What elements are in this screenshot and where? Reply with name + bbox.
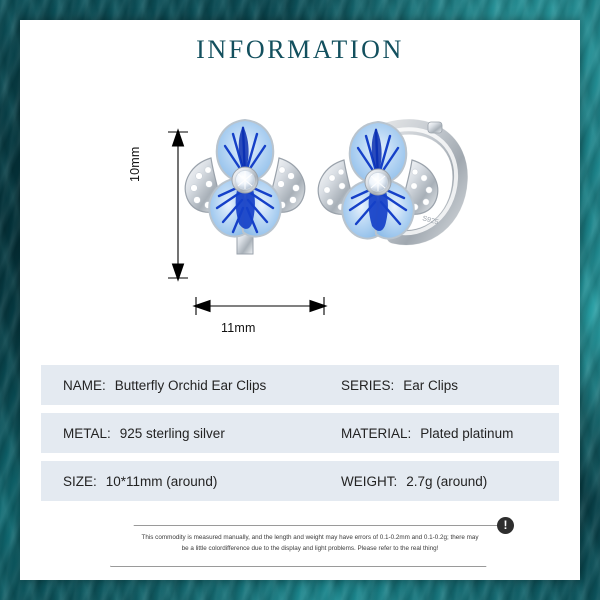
- spec-cell-weight: WEIGHT: 2.7g (around): [319, 474, 559, 489]
- disclaimer-banner: This commodity is measured manually, and…: [110, 525, 510, 567]
- dimension-width-label: 11mm: [221, 321, 256, 335]
- spec-key: SERIES:: [341, 378, 394, 393]
- table-row: SIZE: 10*11mm (around) WEIGHT: 2.7g (aro…: [41, 461, 559, 501]
- spec-value: Butterfly Orchid Ear Clips: [115, 378, 267, 393]
- warning-exclamation-icon: !: [497, 517, 514, 534]
- earring-front-view-image: [175, 112, 315, 262]
- spec-cell-metal: METAL: 925 sterling silver: [41, 426, 319, 441]
- spec-key: NAME:: [63, 378, 106, 393]
- page-title: INFORMATION: [20, 35, 580, 65]
- specification-table: NAME: Butterfly Orchid Ear Clips SERIES:…: [41, 365, 559, 509]
- spec-value: Plated platinum: [420, 426, 513, 441]
- spec-key: SIZE:: [63, 474, 97, 489]
- information-card: INFORMATION 10mm 11mm: [20, 20, 580, 580]
- table-row: METAL: 925 sterling silver MATERIAL: Pla…: [41, 413, 559, 453]
- spec-key: WEIGHT:: [341, 474, 397, 489]
- spec-value: 10*11mm (around): [106, 474, 218, 489]
- spec-cell-size: SIZE: 10*11mm (around): [41, 474, 319, 489]
- spec-cell-material: MATERIAL: Plated platinum: [319, 426, 559, 441]
- spec-key: MATERIAL:: [341, 426, 411, 441]
- spec-value: 2.7g (around): [406, 474, 487, 489]
- earring-side-view-image: S925: [310, 108, 475, 263]
- spec-value: Ear Clips: [403, 378, 458, 393]
- table-row: NAME: Butterfly Orchid Ear Clips SERIES:…: [41, 365, 559, 405]
- spec-key: METAL:: [63, 426, 111, 441]
- spec-value: 925 sterling silver: [120, 426, 225, 441]
- spec-cell-series: SERIES: Ear Clips: [319, 378, 559, 393]
- disclaimer-text: This commodity is measured manually, and…: [110, 532, 510, 554]
- dimension-height-label: 10mm: [128, 146, 142, 182]
- spec-cell-name: NAME: Butterfly Orchid Ear Clips: [41, 378, 319, 393]
- product-image-stage: 10mm 11mm: [20, 90, 580, 355]
